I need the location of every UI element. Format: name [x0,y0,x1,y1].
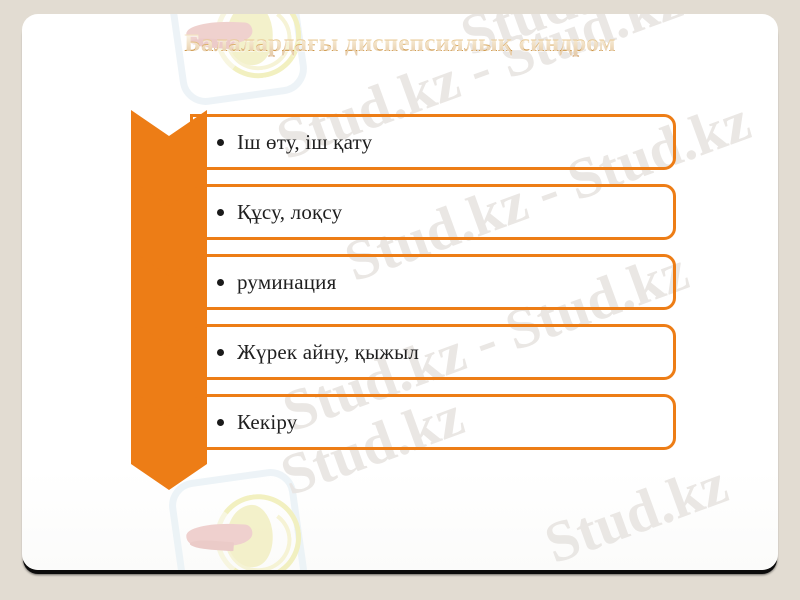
bullet-icon [217,349,224,356]
symptom-list: Іш өту, іш қату Құсу, лоқсу руминация Жү… [190,114,676,464]
slide-card: Stud.kz Stud.kz - Stud.kz Stud.kz - Stud… [22,14,778,570]
list-item-label: руминация [237,270,336,295]
bullet-icon [217,209,224,216]
list-item-label: Кекіру [237,410,298,435]
list-item-label: Іш өту, іш қату [237,130,372,155]
list-item-label: Құсу, лоқсу [237,200,342,225]
bullet-icon [217,419,224,426]
bullet-icon [217,279,224,286]
chevron-list-diagram: Іш өту, іш қату Құсу, лоқсу руминация Жү… [22,14,778,570]
list-item[interactable]: Құсу, лоқсу [190,184,676,240]
list-item[interactable]: Кекіру [190,394,676,450]
bullet-icon [217,139,224,146]
list-item[interactable]: Іш өту, іш қату [190,114,676,170]
slide-root: Stud.kz Stud.kz - Stud.kz Stud.kz - Stud… [0,0,800,600]
list-item[interactable]: Жүрек айну, қыжыл [190,324,676,380]
list-item[interactable]: руминация [190,254,676,310]
list-item-label: Жүрек айну, қыжыл [237,340,419,365]
